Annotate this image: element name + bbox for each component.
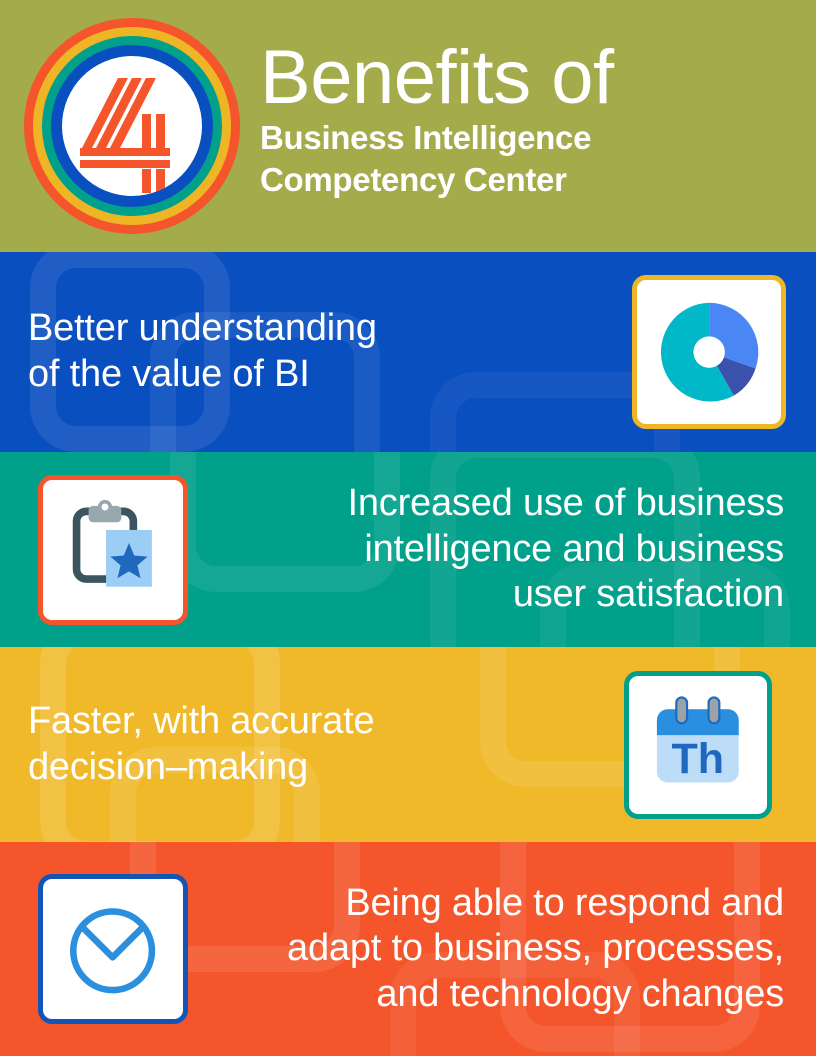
logo-four-mark-icon <box>62 56 202 196</box>
calendar-icon: Th <box>644 691 752 799</box>
benefit-row-faster-decision-making: Faster, with accurate decision–making Th <box>0 647 816 842</box>
donut-chart-icon <box>653 296 765 408</box>
header-section: Benefits of Business Intelligence Compet… <box>0 0 816 252</box>
benefit-line: Faster, with accurate <box>28 699 612 745</box>
calendar-day-label: Th <box>672 734 725 782</box>
page-subtitle-line2: Competency Center <box>260 159 614 201</box>
benefit-text-respond-and-adapt: Being able to respond and adapt to busin… <box>188 881 816 1018</box>
benefit-icon-card-pie-outline <box>38 874 188 1024</box>
benefit-text-faster-decision-making: Faster, with accurate decision–making <box>0 699 624 790</box>
pie-chart-outline-icon <box>58 894 167 1003</box>
benefit-row-increased-use: Increased use of business intelligence a… <box>0 452 816 647</box>
benefit-row-respond-and-adapt: Being able to respond and adapt to busin… <box>0 842 816 1056</box>
benefit-line: decision–making <box>28 745 612 791</box>
benefit-line: Better understanding <box>28 306 620 352</box>
page-title: Benefits of <box>260 43 614 113</box>
page-subtitle-line1: Business Intelligence <box>260 117 614 159</box>
benefit-line: intelligence and business <box>200 527 784 573</box>
benefit-line: user satisfaction <box>200 572 784 618</box>
benefit-line: of the value of BI <box>28 352 620 398</box>
benefit-line: Being able to respond and <box>200 881 784 927</box>
logo <box>24 18 240 234</box>
benefit-line: and technology changes <box>200 972 784 1018</box>
benefit-row-better-understanding: Better understanding of the value of BI <box>0 252 816 452</box>
clipboard-star-icon <box>58 495 167 604</box>
infographic-root: Benefits of Business Intelligence Compet… <box>0 0 816 1056</box>
benefit-icon-card-calendar: Th <box>624 671 772 819</box>
header-titles: Benefits of Business Intelligence Compet… <box>260 43 614 209</box>
benefit-line: adapt to business, processes, <box>200 926 784 972</box>
benefit-line: Increased use of business <box>200 481 784 527</box>
benefit-icon-card-donut <box>632 275 786 429</box>
benefit-text-increased-use: Increased use of business intelligence a… <box>188 481 816 618</box>
benefit-text-better-understanding: Better understanding of the value of BI <box>0 306 632 397</box>
benefit-icon-card-clipboard <box>38 475 188 625</box>
